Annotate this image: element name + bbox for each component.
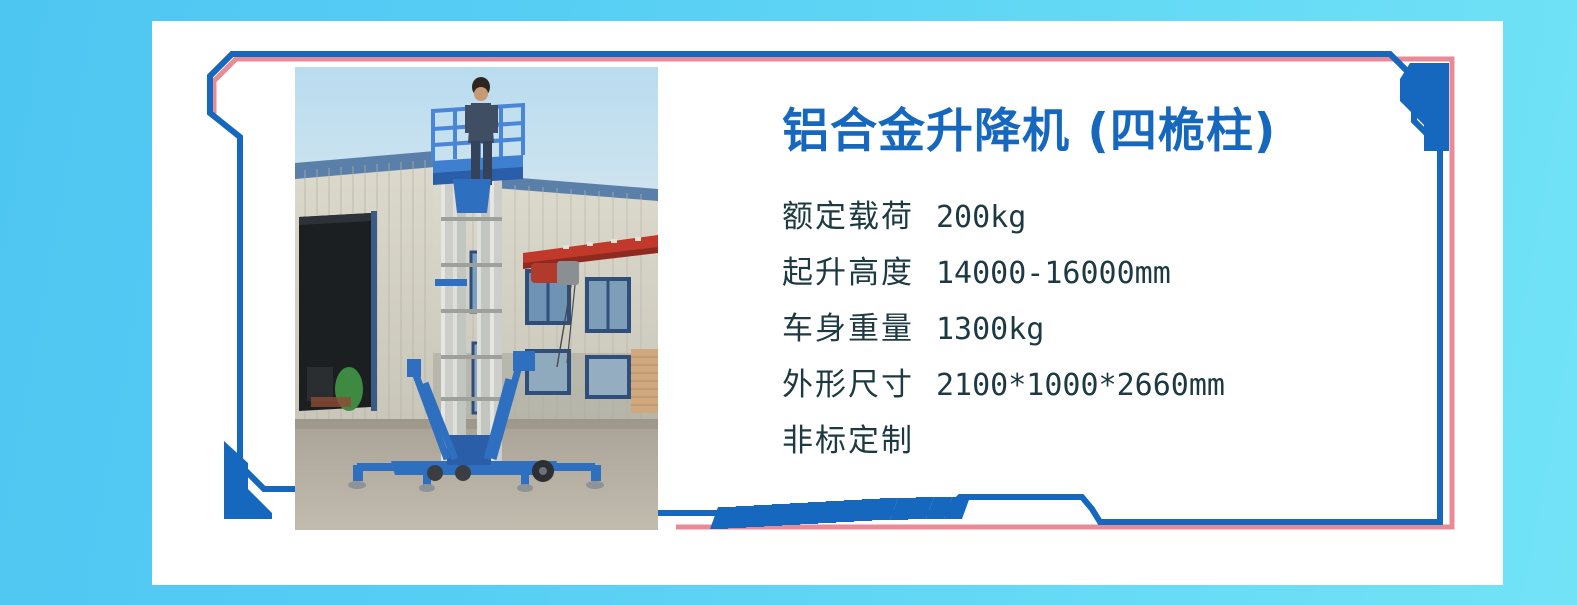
product-banner: 铝合金升降机 (四桅柱) 额定载荷200kg 起升高度14000-16000mm…: [0, 0, 1577, 605]
product-photo: [295, 67, 658, 530]
spec-label: 额定载荷: [782, 199, 914, 235]
white-card: 铝合金升降机 (四桅柱) 额定载荷200kg 起升高度14000-16000mm…: [152, 21, 1503, 585]
spec-value: 1300kg: [936, 312, 1044, 347]
spec-row: 额定载荷200kg: [782, 202, 1462, 233]
page-title: 铝合金升降机 (四桅柱): [782, 106, 1462, 158]
corner-block-bottom-left: [224, 441, 272, 519]
spec-value: 14000-16000mm: [936, 256, 1171, 291]
custom-order-label: 非标定制: [782, 423, 914, 459]
custom-order-note: 非标定制: [782, 426, 1462, 457]
product-info: 铝合金升降机 (四桅柱) 额定载荷200kg 起升高度14000-16000mm…: [782, 106, 1462, 482]
spec-row: 起升高度14000-16000mm: [782, 258, 1462, 289]
stripe-band: [710, 497, 970, 529]
spec-label: 起升高度: [782, 255, 914, 291]
spec-row: 车身重量1300kg: [782, 314, 1462, 345]
spec-value: 200kg: [936, 200, 1026, 235]
spec-label: 车身重量: [782, 311, 914, 347]
spec-label: 外形尺寸: [782, 367, 914, 403]
spec-row: 外形尺寸2100*1000*2660mm: [782, 370, 1462, 401]
spec-value: 2100*1000*2660mm: [936, 368, 1225, 403]
